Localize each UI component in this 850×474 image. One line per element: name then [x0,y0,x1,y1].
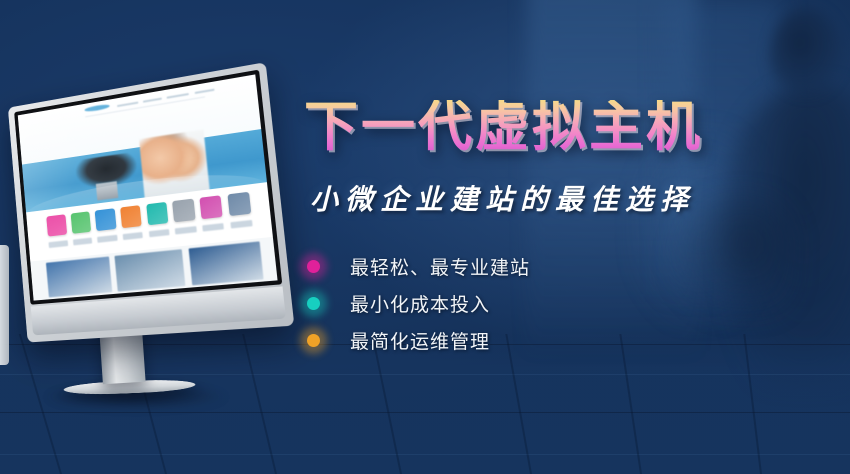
floor-perspective-line [619,334,642,474]
website-icon-label [149,229,170,237]
monitor-bezel [14,70,282,305]
monitor-body [8,62,294,342]
website-icon-label [123,232,144,240]
website-app-icon [46,215,66,237]
hero-banner-slide: 下一代虚拟主机 小微企业建站的最佳选择 最轻松、最专业建站最小化成本投入最简化运… [0,0,850,474]
website-icon-label [230,220,253,229]
website-icon-label [202,223,224,232]
website-nav-line [194,89,214,94]
website-nav-line [143,98,162,103]
website-nav-line [167,93,189,98]
website-icon-label [175,226,197,235]
website-icon-label [97,235,117,243]
website-app-icon [70,212,91,235]
website-icon-label [73,238,93,246]
website-thumbnail [115,249,185,291]
page-subtitle: 小微企业建站的最佳选择 [310,178,695,218]
website-app-icon [172,199,195,223]
bullet-dot-magenta-icon [307,260,320,273]
floor-horizontal-line [0,454,850,455]
website-app-icon [120,205,142,228]
website-thumbnail [188,241,264,285]
page-title: 下一代虚拟主机 [304,100,703,154]
website-app-icon [146,202,169,226]
bullet-dot-orange-icon [307,334,320,347]
feature-bullet-item: 最轻松、最专业建站 [304,248,530,285]
bullet-dot-teal-icon [307,297,320,310]
floor-perspective-line [743,334,762,474]
website-nav-line [117,102,138,107]
imac-monitor [0,78,288,408]
website-thumbnail [46,256,112,296]
website-app-icon [227,192,251,216]
website-app-icon [199,195,223,219]
feature-bullet-list: 最轻松、最专业建站最小化成本投入最简化运维管理 [304,248,530,359]
feature-bullet-label: 最简化运维管理 [350,327,490,354]
background-object-sliver [0,245,9,365]
feature-bullet-label: 最小化成本投入 [350,290,490,317]
feature-bullet-label: 最轻松、最专业建站 [350,253,530,280]
website-logo-icon [84,104,110,113]
feature-bullet-item: 最简化运维管理 [304,322,530,359]
website-icon-label [49,240,68,248]
feature-bullet-item: 最小化成本投入 [304,285,530,322]
floor-horizontal-line [0,412,850,413]
monitor-screen [18,74,278,300]
website-app-icon [95,208,116,231]
